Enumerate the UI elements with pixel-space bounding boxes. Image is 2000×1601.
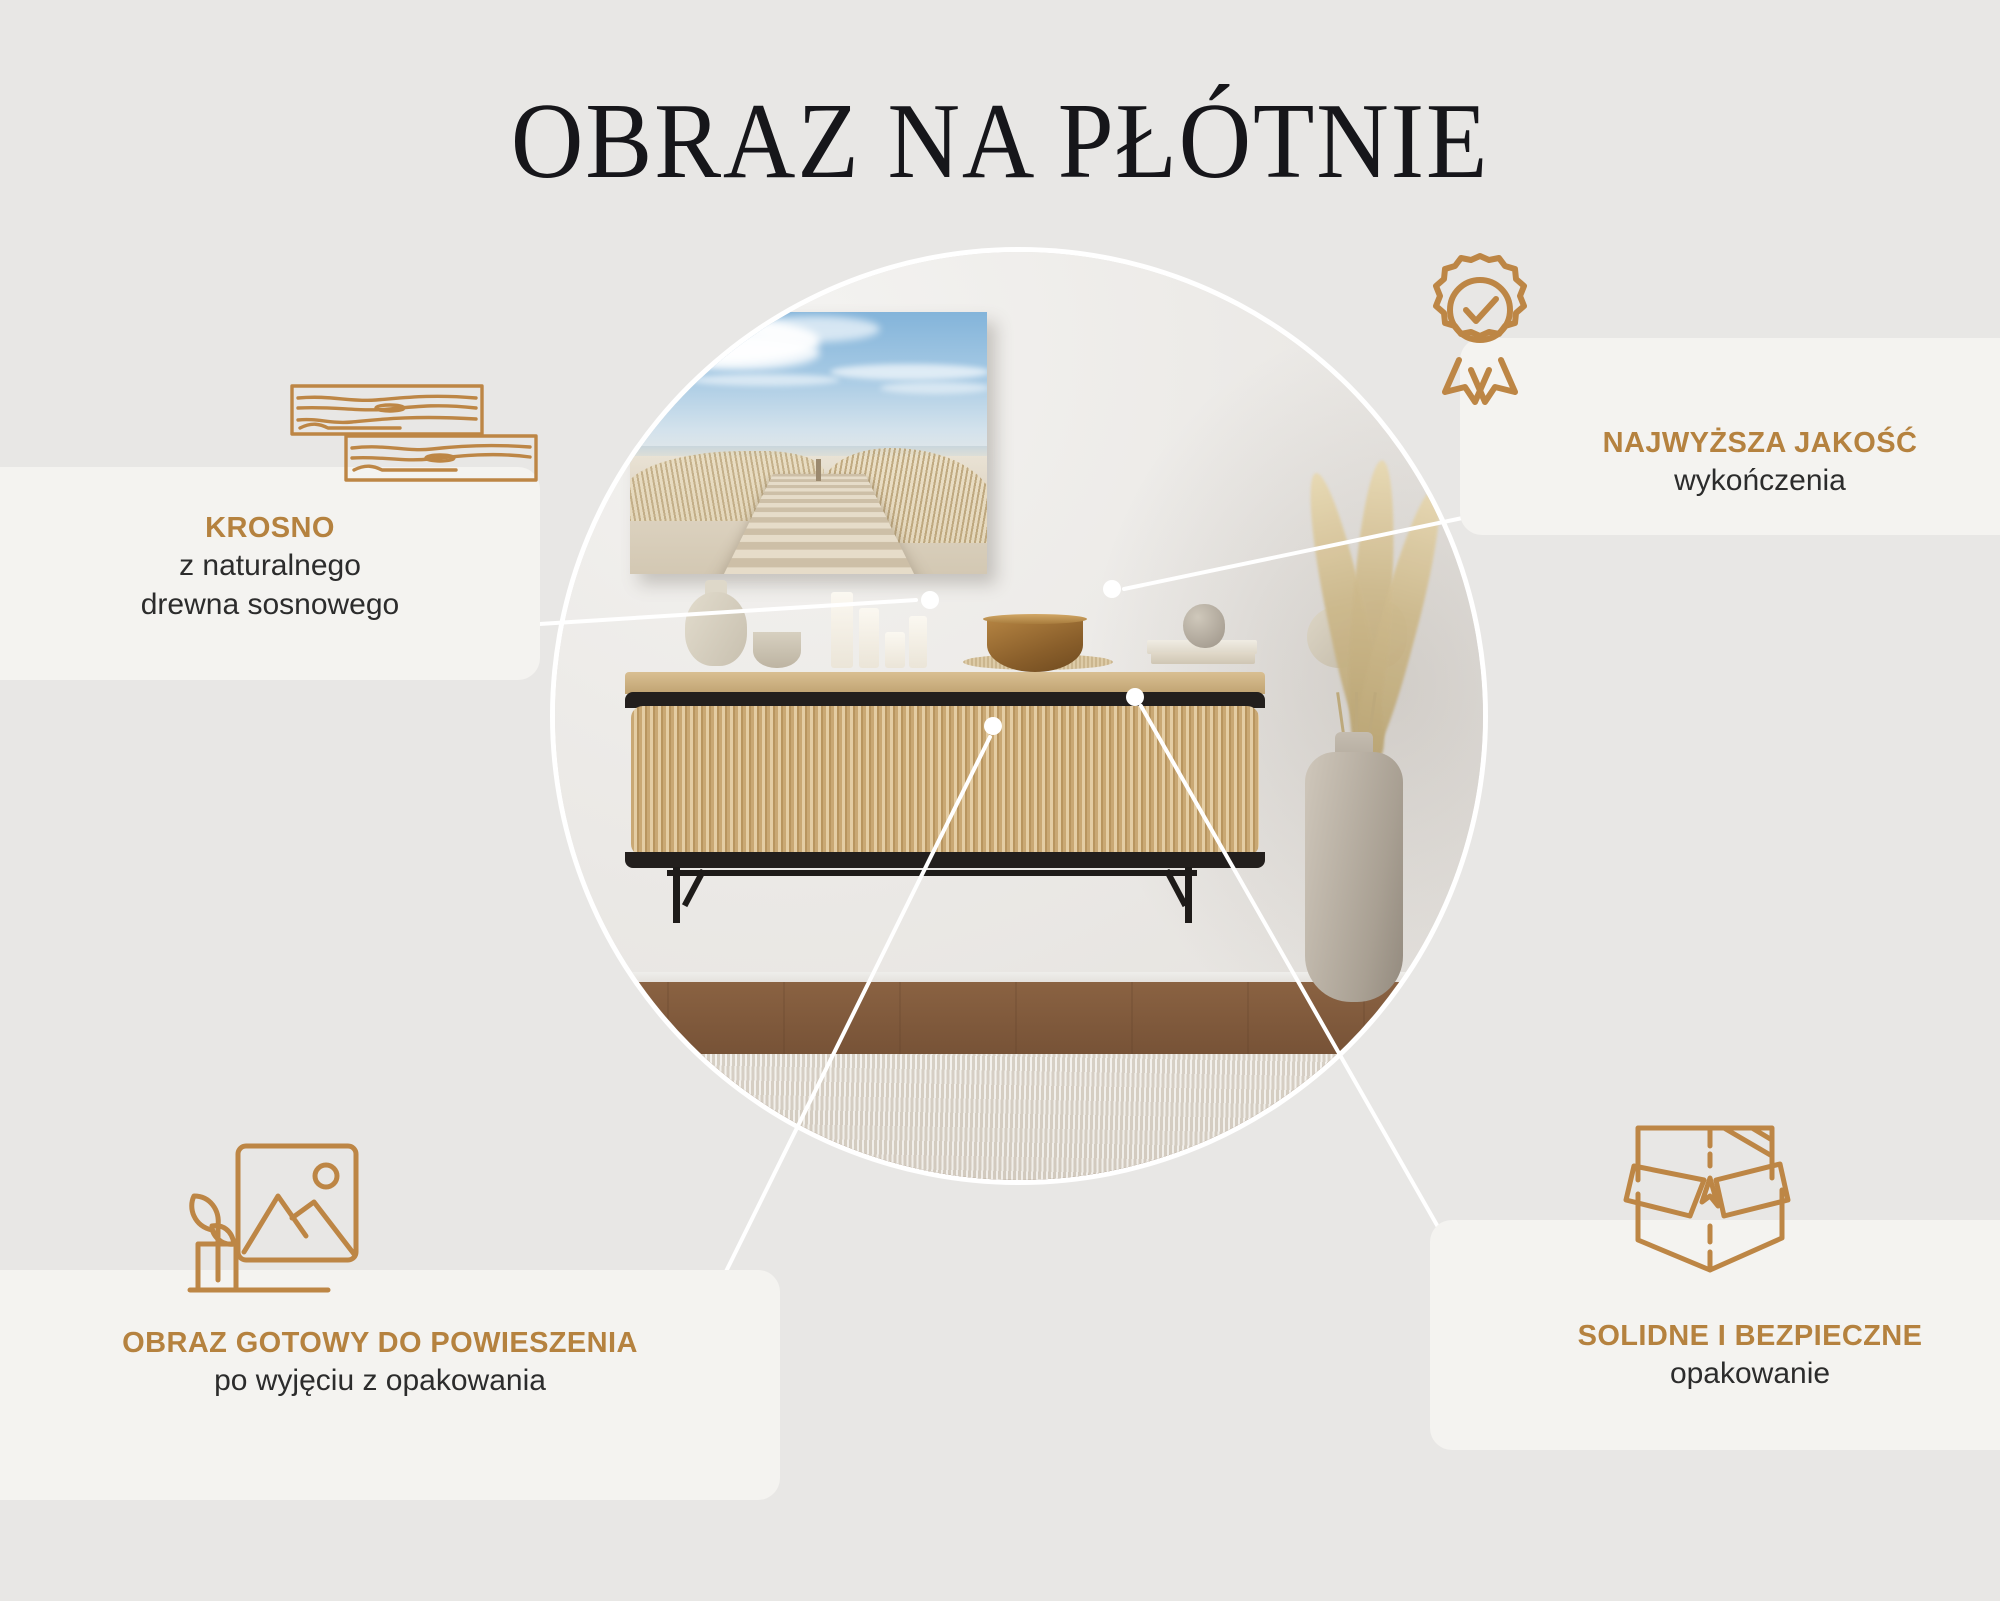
infographic-canvas: OBRAZ NA PŁÓTNIE <box>0 0 2000 1601</box>
feature-text-packaging: SOLIDNE I BEZPIECZNE opakowanie <box>1460 1318 2000 1393</box>
sideboard-top <box>625 672 1265 694</box>
feature-heading-quality: NAJWYŻSZA JAKOŚĆ <box>1490 425 2000 461</box>
sideboard-frame-bottom <box>625 852 1265 868</box>
stacked-books <box>1151 652 1255 664</box>
floor-vase <box>1305 752 1403 1002</box>
feature-subtext-krosno-line2: drewna sosnowego <box>0 585 540 624</box>
canvas-artwork-beach <box>630 312 987 574</box>
feature-text-quality: NAJWYŻSZA JAKOŚĆ wykończenia <box>1490 425 2000 500</box>
feature-heading-packaging: SOLIDNE I BEZPIECZNE <box>1460 1318 2000 1354</box>
feature-heading-ready-to-hang: OBRAZ GOTOWY DO POWIESZENIA <box>0 1325 760 1361</box>
feature-text-krosno: KROSNO z naturalnego drewna sosnowego <box>0 510 540 624</box>
brass-bowl-rim <box>983 614 1087 624</box>
page-title: OBRAZ NA PŁÓTNIE <box>70 88 1930 196</box>
candle <box>831 592 853 668</box>
framed-picture-icon <box>160 1140 390 1320</box>
ceramic-vase-large <box>685 592 747 666</box>
quality-badge-icon <box>1415 248 1545 408</box>
feature-subtext-ready-to-hang: po wyjęciu z opakowania <box>0 1361 760 1400</box>
cloud <box>750 316 880 342</box>
area-rug <box>555 1054 1483 1180</box>
candle <box>885 632 905 668</box>
cloud <box>690 374 840 386</box>
feature-subtext-packaging: opakowanie <box>1460 1354 2000 1393</box>
candle <box>909 616 927 668</box>
open-box-icon <box>1620 1120 1800 1280</box>
brass-bowl <box>987 618 1083 672</box>
wood-planks-icon <box>290 382 570 482</box>
sideboard-furniture <box>625 672 1265 887</box>
hero-room-photo <box>555 252 1483 1180</box>
ceramic-bowl-small <box>753 632 801 668</box>
feature-subtext-quality: wykończenia <box>1490 461 2000 500</box>
stone-sculpture <box>1183 604 1225 648</box>
sideboard-leg-bar <box>667 870 1197 876</box>
cloud <box>830 364 987 380</box>
feature-heading-krosno: KROSNO <box>0 510 540 546</box>
room-scene <box>555 252 1483 1180</box>
wooden-post <box>816 459 821 481</box>
sideboard-fluted-front <box>631 706 1259 856</box>
feature-text-ready-to-hang: OBRAZ GOTOWY DO POWIESZENIA po wyjęciu z… <box>0 1325 760 1400</box>
feature-subtext-krosno-line1: z naturalnego <box>0 546 540 585</box>
cloud <box>880 382 987 394</box>
wall-shadow <box>1075 312 1483 992</box>
candle <box>859 608 879 668</box>
